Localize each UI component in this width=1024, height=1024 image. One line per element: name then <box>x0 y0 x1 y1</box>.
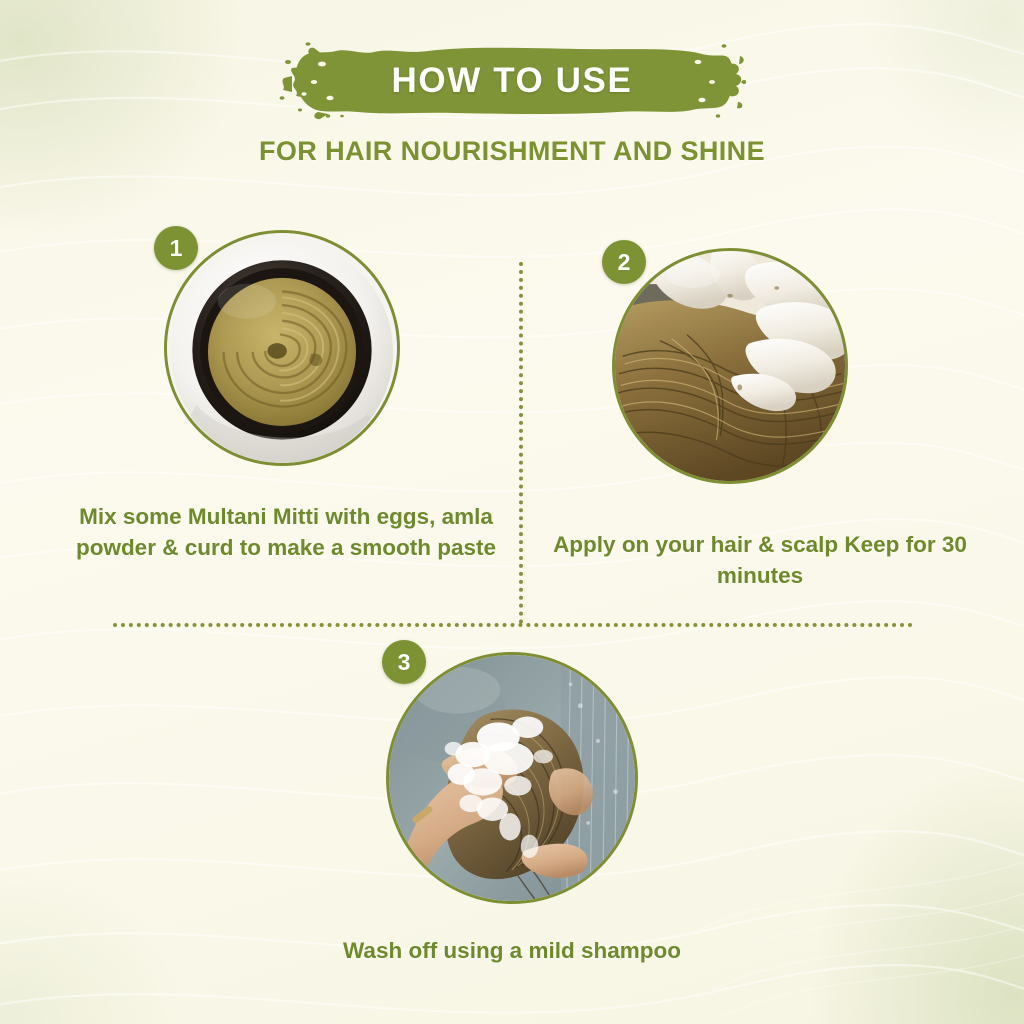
woman-shampooing-hair-in-shower-image <box>389 655 635 901</box>
step-1-photo <box>164 230 400 466</box>
page-subtitle: FOR HAIR NOURISHMENT AND SHINE <box>0 136 1024 167</box>
step-1-badge: 1 <box>154 226 198 270</box>
step-3-badge: 3 <box>382 640 426 684</box>
step-2-caption: Apply on your hair & scalp Keep for 30 m… <box>530 530 990 591</box>
bowl-of-multani-mitti-paste-image <box>167 233 397 463</box>
step-2-photo <box>612 248 848 484</box>
step-3-photo <box>386 652 638 904</box>
gloved-hands-applying-paste-to-hair-image <box>615 251 845 481</box>
divider-horizontal <box>113 623 913 627</box>
step-3-caption: Wash off using a mild shampoo <box>282 936 742 967</box>
page-title: HOW TO USE <box>278 42 746 120</box>
step-1: 1 Mix some Multani Mitti with eggs, amla… <box>56 230 516 563</box>
divider-vertical <box>519 262 523 624</box>
step-3-image-wrap: 3 <box>386 652 638 904</box>
step-3: 3 Wash off using a mild shampoo <box>282 652 742 967</box>
step-1-image-wrap: 1 <box>164 230 400 466</box>
step-2: 2 Apply on your hair & scalp Keep for 30… <box>530 248 990 591</box>
step-2-badge: 2 <box>602 240 646 284</box>
step-1-caption: Mix some Multani Mitti with eggs, amla p… <box>56 502 516 563</box>
step-2-image-wrap: 2 <box>612 248 848 484</box>
